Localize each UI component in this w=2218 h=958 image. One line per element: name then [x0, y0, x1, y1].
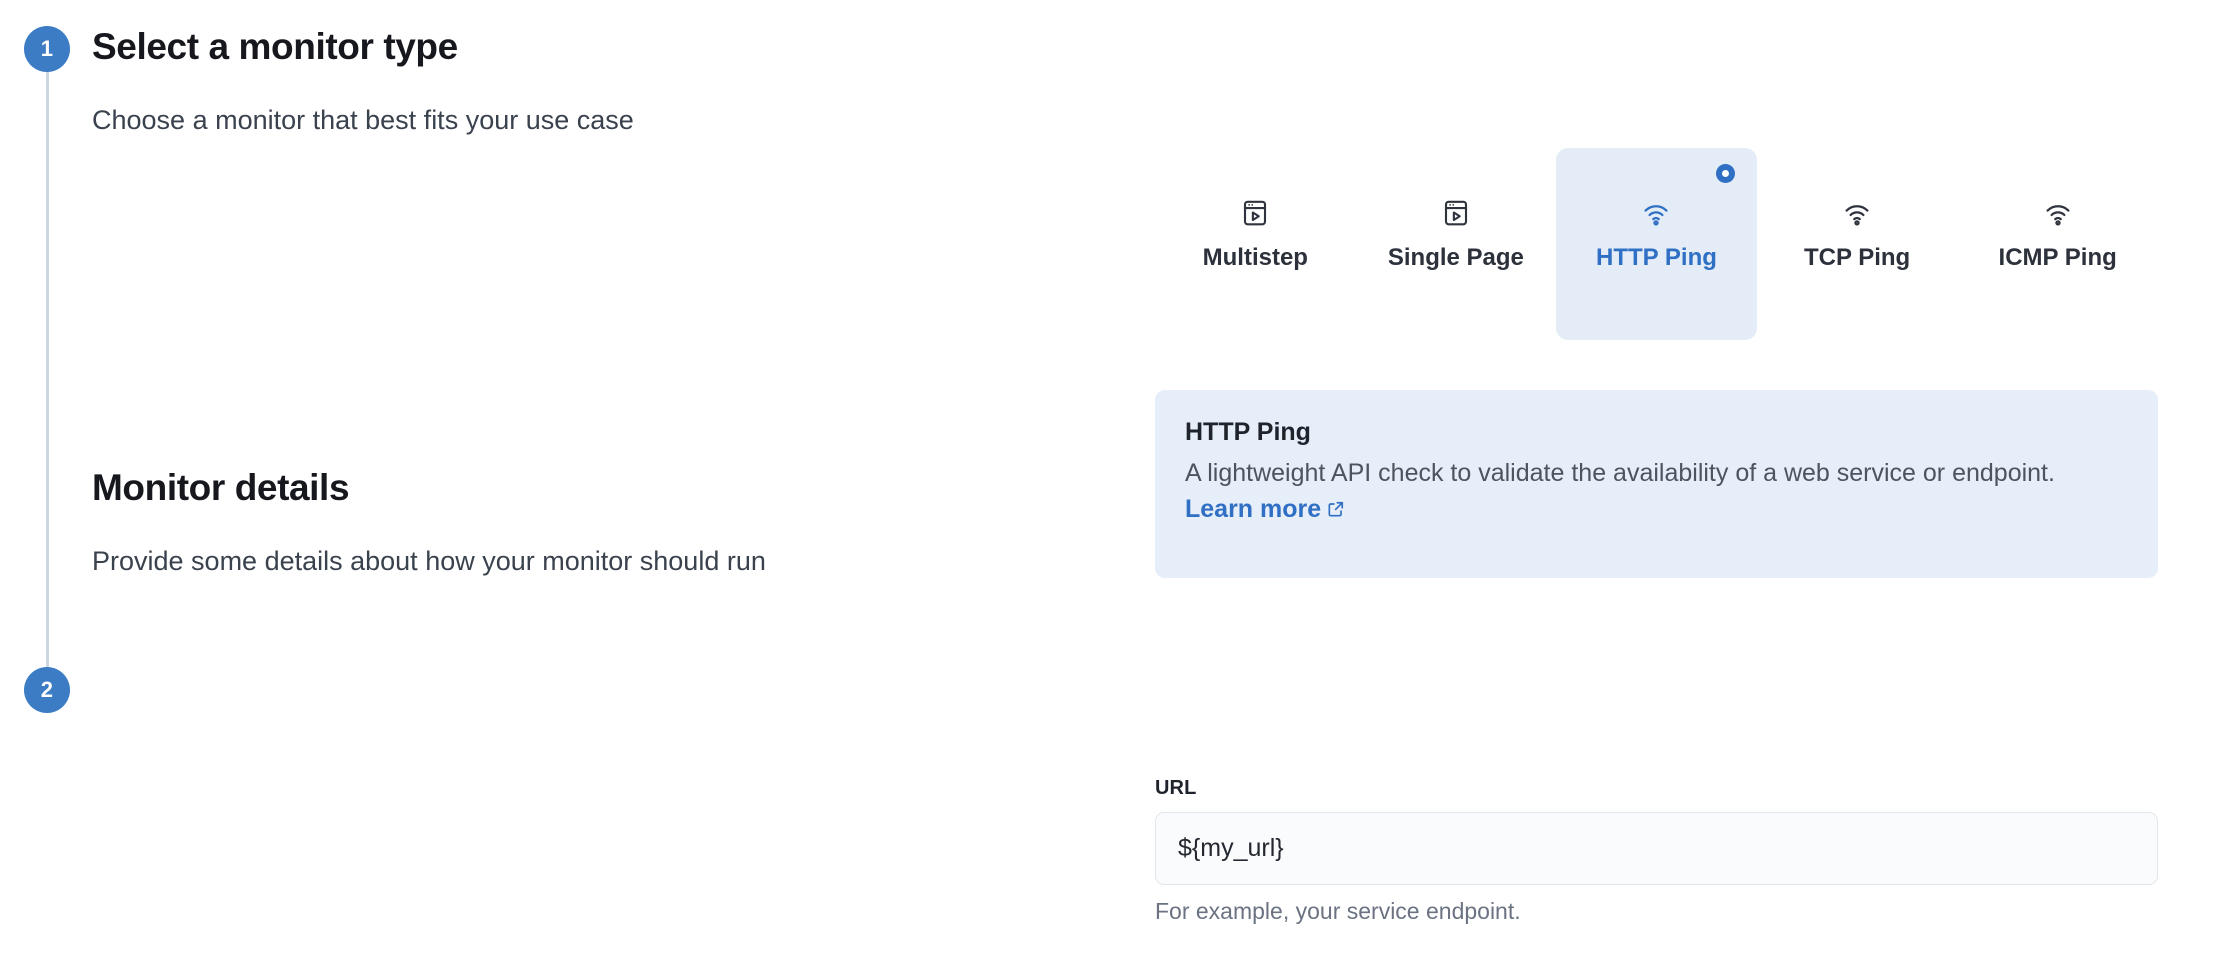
step-description-1: Choose a monitor that best fits your use…: [92, 105, 634, 136]
info-panel-title: HTTP Ping: [1185, 416, 2128, 449]
wifi-icon: [2041, 196, 2075, 230]
monitor-type-selector: Multistep Single Page: [1155, 148, 2158, 340]
wifi-icon: [1840, 196, 1874, 230]
url-field-label: URL: [1155, 777, 2158, 800]
info-panel-body: A lightweight API check to validate the …: [1185, 455, 2125, 530]
monitor-type-card-tcp-ping[interactable]: TCP Ping: [1757, 148, 1958, 340]
monitor-type-label: TCP Ping: [1804, 244, 1910, 272]
monitor-type-label: Single Page: [1388, 244, 1524, 272]
step-title-2: Monitor details: [92, 467, 349, 509]
monitor-type-card-http-ping[interactable]: HTTP Ping: [1556, 148, 1757, 340]
info-panel-description: A lightweight API check to validate the …: [1185, 459, 2055, 487]
radio-selected-icon[interactable]: [1716, 164, 1735, 183]
learn-more-link[interactable]: Learn more: [1185, 495, 1321, 523]
monitor-type-label: ICMP Ping: [1999, 244, 2117, 272]
stepper-connector-line: [46, 70, 49, 680]
browser-play-icon: [1238, 196, 1272, 230]
monitor-type-card-icmp-ping[interactable]: ICMP Ping: [1957, 148, 2158, 340]
browser-play-icon: [1439, 196, 1473, 230]
monitor-type-card-multistep[interactable]: Multistep: [1155, 148, 1356, 340]
step-badge-2: 2: [24, 667, 70, 713]
step-badge-1: 1: [24, 26, 70, 72]
step-title-1: Select a monitor type: [92, 26, 458, 68]
url-input[interactable]: [1155, 812, 2158, 885]
url-field-help-text: For example, your service endpoint.: [1155, 898, 2158, 925]
external-link-icon[interactable]: [1326, 493, 1346, 529]
step-description-2: Provide some details about how your moni…: [92, 546, 766, 577]
url-field-block: URL For example, your service endpoint.: [1155, 777, 2158, 925]
monitor-type-card-single-page[interactable]: Single Page: [1356, 148, 1557, 340]
monitor-setup-page: 1 Select a monitor type Choose a monitor…: [0, 0, 2218, 958]
monitor-type-label: HTTP Ping: [1596, 244, 1717, 272]
wifi-icon: [1639, 196, 1673, 230]
monitor-type-info-panel: HTTP Ping A lightweight API check to val…: [1155, 390, 2158, 578]
monitor-type-label: Multistep: [1203, 244, 1308, 272]
